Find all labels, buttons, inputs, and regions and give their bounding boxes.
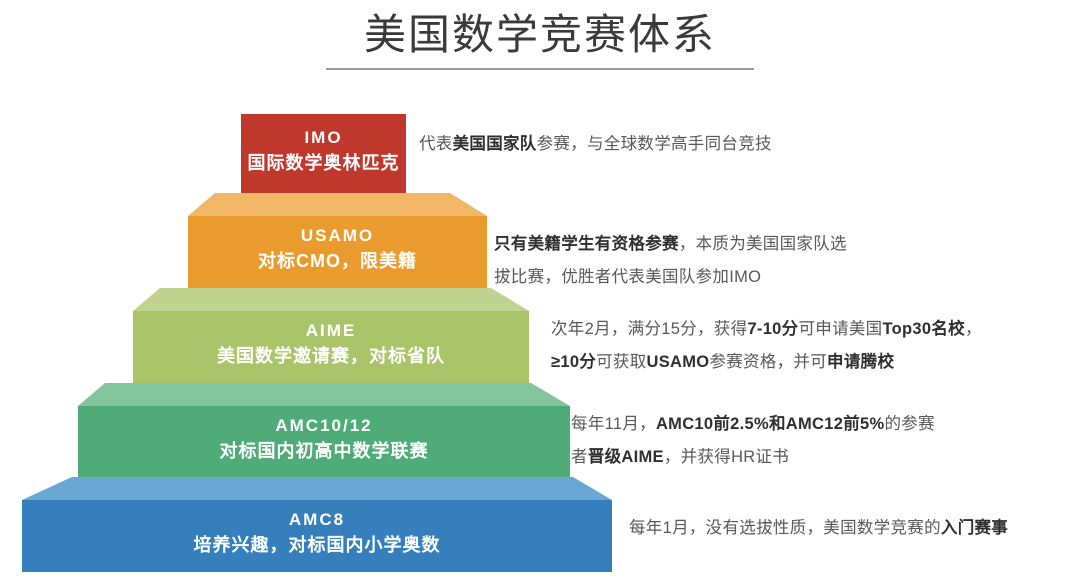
note-aime: 次年2月，满分15分，获得7-10分可申请美国Top30名校，≥10分可获取US… bbox=[551, 313, 982, 379]
note-emphasis: 7-10分 bbox=[747, 320, 798, 338]
pyramid-tier-usamo-top-face bbox=[188, 193, 487, 216]
note-text: 的参赛 bbox=[884, 415, 934, 433]
note-text: 者 bbox=[571, 448, 588, 466]
note-emphasis: 入门赛事 bbox=[941, 519, 1008, 537]
pyramid-tier-aime-top-face bbox=[133, 288, 529, 311]
note-emphasis: ≥10分 bbox=[551, 353, 596, 371]
note-text: 每年11月， bbox=[571, 415, 656, 433]
note-text: 可获取 bbox=[596, 353, 646, 371]
pyramid-tier-amc1012-front-face bbox=[78, 406, 570, 477]
note-text: ，并获得HR证书 bbox=[664, 448, 789, 466]
note-text: 次年2月，满分15分，获得 bbox=[551, 320, 747, 338]
note-emphasis: Top30名校 bbox=[882, 320, 964, 338]
note-line: 代表美国国家队参赛，与全球数学高手同台竞技 bbox=[419, 128, 772, 161]
note-text: ，本质为美国国家队选 bbox=[679, 235, 847, 253]
note-line: 每年11月，AMC10前2.5%和AMC12前5%的参赛 bbox=[571, 408, 935, 441]
infographic-canvas: 美国数学竞赛体系 IMO 国际数学奥林匹克 bbox=[0, 0, 1080, 583]
pyramid-tier-imo[interactable] bbox=[241, 114, 406, 193]
note-line: 拔比赛，优胜者代表美国队参加IMO bbox=[494, 261, 847, 294]
note-line: ≥10分可获取USAMO参赛资格，并可申请腾校 bbox=[551, 346, 982, 379]
note-emphasis: 只有美籍学生有资格参赛 bbox=[494, 235, 679, 253]
pyramid-tier-imo-front-face bbox=[241, 114, 406, 193]
note-emphasis: 晋级AIME bbox=[588, 448, 664, 466]
pyramid-tier-usamo-front-face bbox=[188, 216, 487, 288]
note-amc1012: 每年11月，AMC10前2.5%和AMC12前5%的参赛者晋级AIME，并获得H… bbox=[571, 408, 935, 474]
note-text: ， bbox=[965, 320, 982, 338]
note-line: 次年2月，满分15分，获得7-10分可申请美国Top30名校， bbox=[551, 313, 982, 346]
pyramid-tier-amc8-front-face bbox=[22, 500, 612, 572]
note-line: 者晋级AIME，并获得HR证书 bbox=[571, 441, 935, 474]
note-usamo: 只有美籍学生有资格参赛，本质为美国国家队选拔比赛，优胜者代表美国队参加IMO bbox=[494, 228, 847, 294]
pyramid-tier-usamo[interactable] bbox=[188, 193, 487, 288]
note-text: 可申请美国 bbox=[798, 320, 882, 338]
note-emphasis: 美国国家队 bbox=[453, 135, 537, 153]
note-text: 参赛，与全球数学高手同台竞技 bbox=[537, 135, 772, 153]
pyramid-tier-aime-front-face bbox=[133, 311, 529, 383]
pyramid-tier-amc8[interactable] bbox=[22, 477, 612, 572]
pyramid-tier-amc1012[interactable] bbox=[78, 383, 570, 477]
note-emphasis: 申请腾校 bbox=[827, 353, 894, 371]
note-text: 参赛资格，并可 bbox=[709, 353, 827, 371]
note-emphasis: AMC10前2.5%和AMC12前5% bbox=[656, 415, 885, 433]
note-imo: 代表美国国家队参赛，与全球数学高手同台竞技 bbox=[419, 128, 772, 161]
note-amc8: 每年1月，没有选拔性质，美国数学竞赛的入门赛事 bbox=[629, 512, 1008, 545]
pyramid-tier-amc8-top-face bbox=[22, 477, 612, 500]
note-text: 每年1月，没有选拔性质，美国数学竞赛的 bbox=[629, 519, 941, 537]
note-line: 只有美籍学生有资格参赛，本质为美国国家队选 bbox=[494, 228, 847, 261]
pyramid-tier-aime[interactable] bbox=[133, 288, 529, 383]
note-text: 拔比赛，优胜者代表美国队参加IMO bbox=[494, 268, 761, 286]
note-line: 每年1月，没有选拔性质，美国数学竞赛的入门赛事 bbox=[629, 512, 1008, 545]
note-text: 代表 bbox=[419, 135, 453, 153]
note-emphasis: USAMO bbox=[647, 353, 710, 371]
pyramid-tier-amc1012-top-face bbox=[78, 383, 570, 406]
